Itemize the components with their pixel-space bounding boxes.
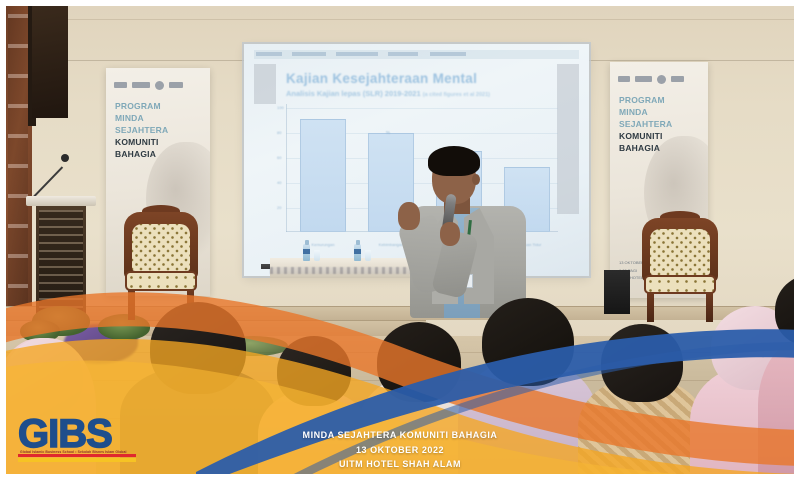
chair-seat bbox=[125, 271, 196, 290]
lectern-microphone-icon bbox=[34, 154, 72, 198]
presenter-ear bbox=[472, 174, 480, 185]
slide-pane-left bbox=[254, 64, 276, 104]
drinking-glass bbox=[314, 250, 320, 261]
slide-title: Kajian Kesejahteraan Mental bbox=[286, 71, 477, 86]
chart-bar bbox=[300, 119, 346, 232]
caption-line-title: MINDA SEJAHTERA KOMUNITI BAHAGIA bbox=[250, 428, 550, 443]
photograph: Kajian Kesejahteraan Mental Analisis Kaj… bbox=[6, 6, 794, 474]
event-photo-card: Kajian Kesejahteraan Mental Analisis Kaj… bbox=[0, 0, 800, 480]
chart-ytick: 100 bbox=[277, 105, 284, 110]
gibs-tagline: Global Islamic Business School • Sekolah… bbox=[20, 450, 136, 454]
chair-leg bbox=[128, 290, 135, 320]
caption-line-venue: UITM HOTEL SHAH ALAM bbox=[250, 457, 550, 472]
loudspeaker-box bbox=[604, 270, 630, 314]
banner-logo-strip bbox=[114, 80, 202, 90]
presenter bbox=[404, 146, 530, 318]
audience-member bbox=[578, 324, 706, 474]
chair-seat bbox=[644, 275, 717, 294]
chart-ytick: 40 bbox=[277, 180, 281, 185]
banner-text: PROGRAM MINDA SEJAHTERA KOMUNITI BAHAGIA bbox=[115, 100, 168, 160]
gibs-wordmark: GIBS bbox=[18, 416, 136, 453]
chart-ytick: 20 bbox=[277, 205, 281, 210]
slide-ribbon bbox=[254, 50, 579, 59]
presenter-hand-holding-mic bbox=[440, 222, 460, 246]
presenter-hair bbox=[428, 146, 480, 176]
slide-pane-right bbox=[557, 64, 579, 214]
water-bottle bbox=[354, 244, 361, 261]
water-bottle bbox=[303, 244, 310, 261]
chart-data-label: % bbox=[386, 130, 390, 135]
gibs-bar-yellow bbox=[18, 458, 136, 462]
presenter-hand-gesture bbox=[398, 202, 420, 230]
drinking-glass bbox=[365, 250, 371, 261]
chart-y-axis bbox=[286, 104, 287, 232]
event-caption: MINDA SEJAHTERA KOMUNITI BAHAGIA 13 OKTO… bbox=[250, 428, 550, 472]
ornate-chair-right bbox=[642, 218, 718, 322]
chair-leg bbox=[706, 293, 713, 322]
banner-logo-strip bbox=[618, 74, 700, 84]
chair-backrest bbox=[132, 224, 190, 272]
gibs-logo: GIBS Global Islamic Business School • Se… bbox=[18, 416, 136, 462]
chart-ytick: 80 bbox=[277, 130, 281, 135]
caption-line-date: 13 OKTOBER 2022 bbox=[250, 443, 550, 458]
wall-seam-upper bbox=[6, 19, 794, 20]
slide-subtitle: Analisis Kajian lepas (SLR) 2019-2021 (a… bbox=[286, 89, 490, 98]
chair-backrest bbox=[650, 229, 709, 275]
lectern-top bbox=[26, 196, 96, 206]
chair-leg bbox=[647, 293, 654, 322]
doorway-dark bbox=[32, 6, 68, 118]
chart-ytick: 60 bbox=[277, 155, 281, 160]
